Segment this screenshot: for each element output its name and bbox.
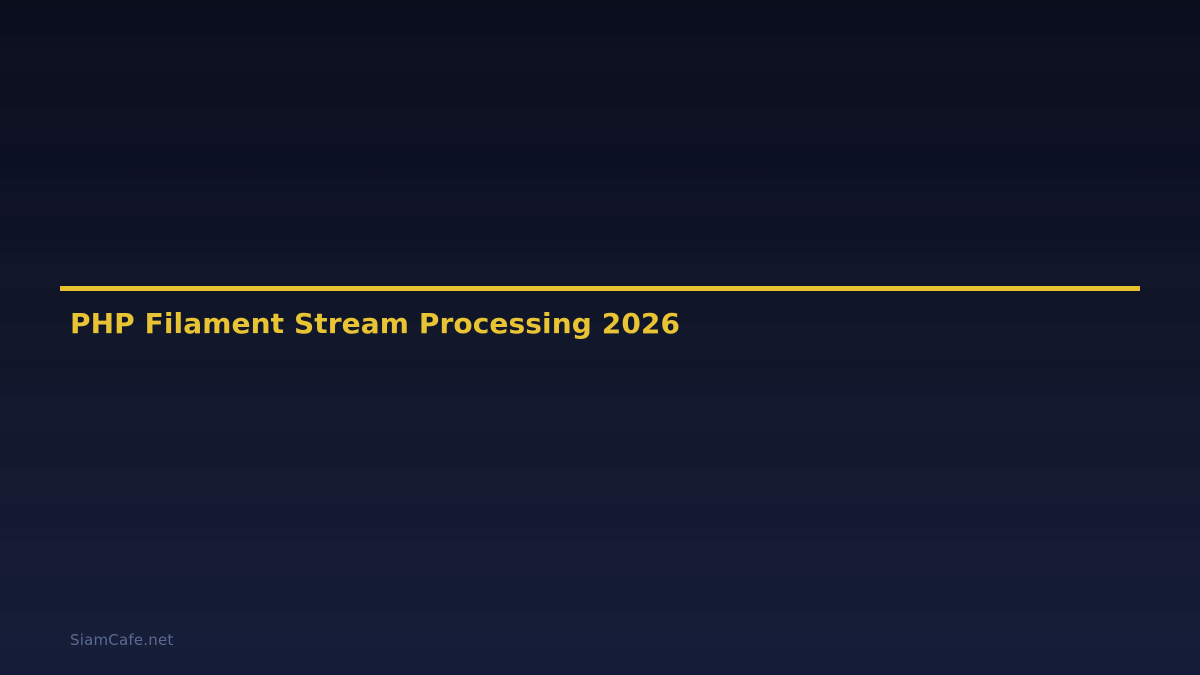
title-block: PHP Filament Stream Processing 2026	[60, 286, 1140, 340]
page-title: PHP Filament Stream Processing 2026	[60, 291, 1140, 340]
footer-branding: SiamCafe.net	[70, 630, 173, 650]
title-slide: PHP Filament Stream Processing 2026 Siam…	[0, 0, 1200, 675]
